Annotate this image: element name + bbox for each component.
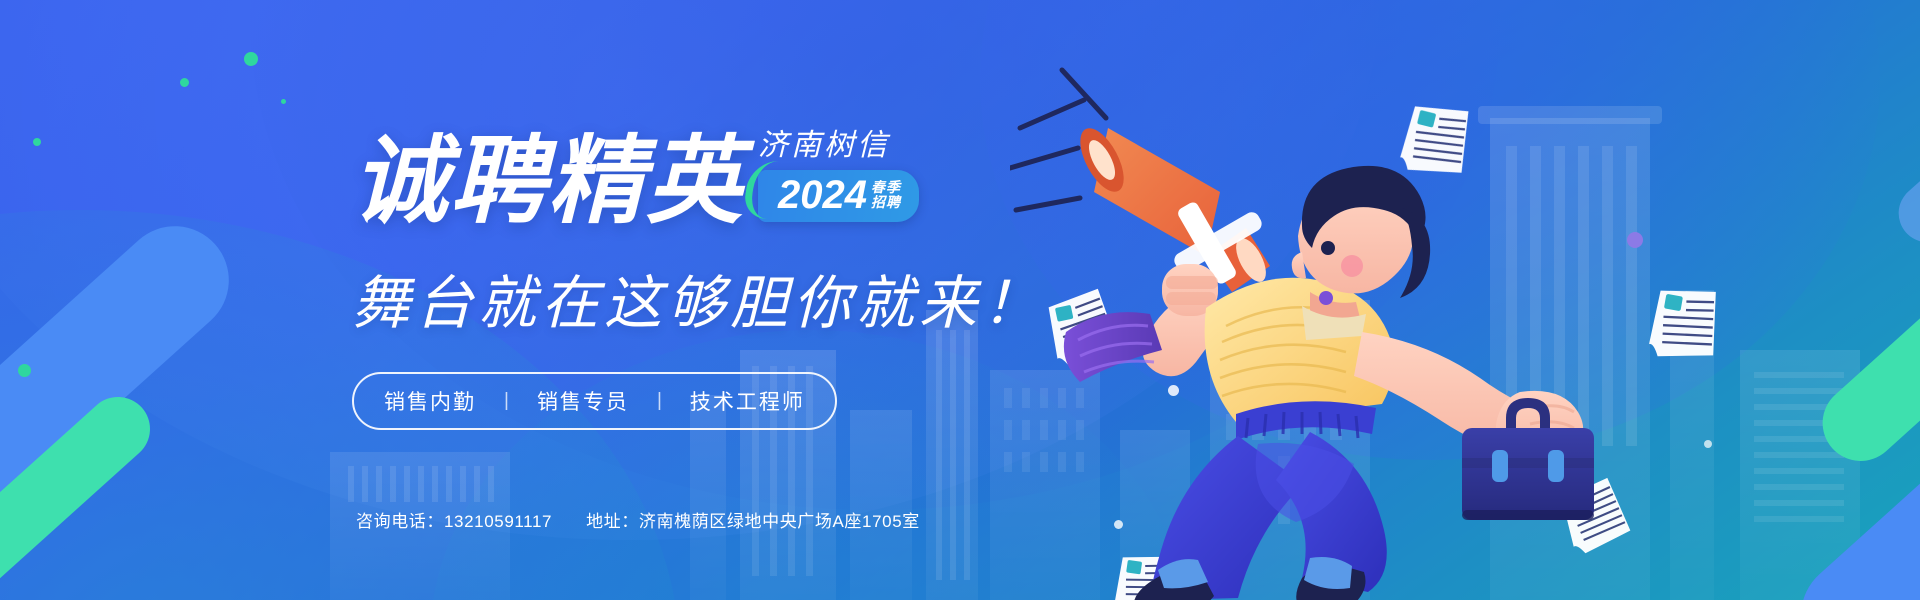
recruitment-banner: 诚聘精英 济南树信 2024 春季 招聘 舞台就在这够胆你就来！ 销售内勤 | … xyxy=(0,0,1920,600)
position-item-2[interactable]: 技术工程师 xyxy=(690,386,805,416)
decorative-bar-left-blue xyxy=(0,204,251,592)
contact-line: 咨询电话：13210591117 地址：济南槐荫区绿地中央广场A座1705室 xyxy=(356,507,920,532)
running-businessman-illustration xyxy=(1010,40,1630,600)
decorative-dot xyxy=(244,52,258,66)
address-group: 地址：济南槐荫区绿地中央广场A座1705室 xyxy=(586,507,920,532)
headline-row: 诚聘精英 济南树信 2024 春季 招聘 xyxy=(352,120,1092,230)
phone-label: 咨询电话： xyxy=(356,512,444,531)
decorative-dot xyxy=(1561,462,1571,472)
background-swirl-4 xyxy=(980,0,1880,460)
phone-group: 咨询电话：13210591117 xyxy=(356,507,552,532)
position-item-1[interactable]: 销售专员 xyxy=(537,386,629,416)
brand-block: 济南树信 2024 春季 招聘 xyxy=(758,120,919,230)
decorative-bar-left-mint xyxy=(0,384,163,600)
badge-sub-line1: 春季 xyxy=(871,180,901,195)
position-separator: | xyxy=(629,390,690,412)
badge-sub-line2: 招聘 xyxy=(871,195,901,210)
banner-copy: 诚聘精英 济南树信 2024 春季 招聘 舞台就在这够胆你就来！ 销售内勤 | … xyxy=(352,120,1092,430)
badge-year: 2024 xyxy=(778,175,867,215)
decorative-bar-right-faint xyxy=(1887,44,1920,254)
decorative-dot xyxy=(18,364,31,377)
decorative-dot xyxy=(281,99,286,104)
decorative-dot xyxy=(180,78,189,87)
page-title: 诚聘精英 xyxy=(352,134,744,230)
badge-subtext: 春季 招聘 xyxy=(871,180,901,210)
position-item-0[interactable]: 销售内勤 xyxy=(384,386,476,416)
decorative-bar-right-blue xyxy=(1778,297,1920,600)
address-value: 济南槐荫区绿地中央广场A座1705室 xyxy=(639,512,920,531)
decorative-dot xyxy=(1627,232,1643,248)
decorative-bar-right-mint xyxy=(1807,199,1920,476)
season-badge: 2024 春季 招聘 xyxy=(758,170,919,222)
positions-pill: 销售内勤 | 销售专员 | 技术工程师 xyxy=(352,372,837,430)
decorative-dot xyxy=(1114,520,1123,529)
decorative-dot xyxy=(33,138,41,146)
phone-value[interactable]: 13210591117 xyxy=(444,512,552,531)
position-separator: | xyxy=(476,390,537,412)
decorative-dot xyxy=(1704,440,1712,448)
brand-name: 济南树信 xyxy=(758,120,919,164)
decorative-dot xyxy=(1168,385,1179,396)
subheadline: 舞台就在这够胆你就来！ xyxy=(352,256,1092,340)
address-label: 地址： xyxy=(586,512,639,531)
